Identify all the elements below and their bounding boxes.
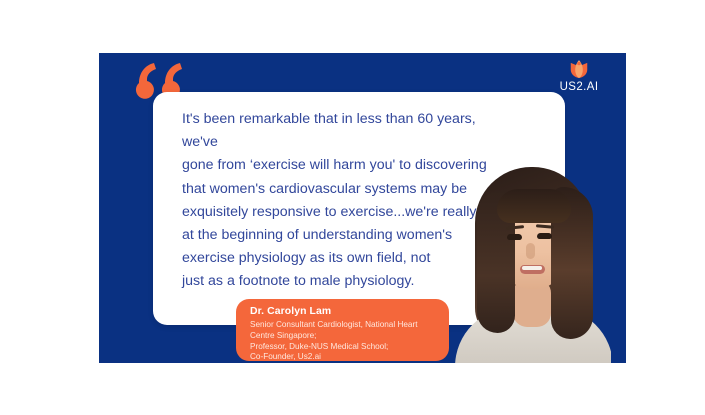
brand-logo: US2.AI [547,58,611,93]
attribution-name: Dr. Carolyn Lam [250,305,437,319]
speaker-portrait [451,157,611,363]
brand-wordmark: US2.AI [547,81,611,93]
portrait-eye-right [537,233,552,239]
portrait-nose [526,243,535,259]
tulip-flower-logo-icon [568,58,590,80]
attribution-roles: Senior Consultant Cardiologist, National… [250,320,437,363]
portrait-teeth [522,266,542,270]
attribution-box: Dr. Carolyn Lam Senior Consultant Cardio… [236,299,449,361]
portrait-fringe [497,189,571,223]
portrait-eye-left [507,234,522,240]
quote-graphic-panel: US2.AI It's been remarkable that in less… [99,53,626,363]
